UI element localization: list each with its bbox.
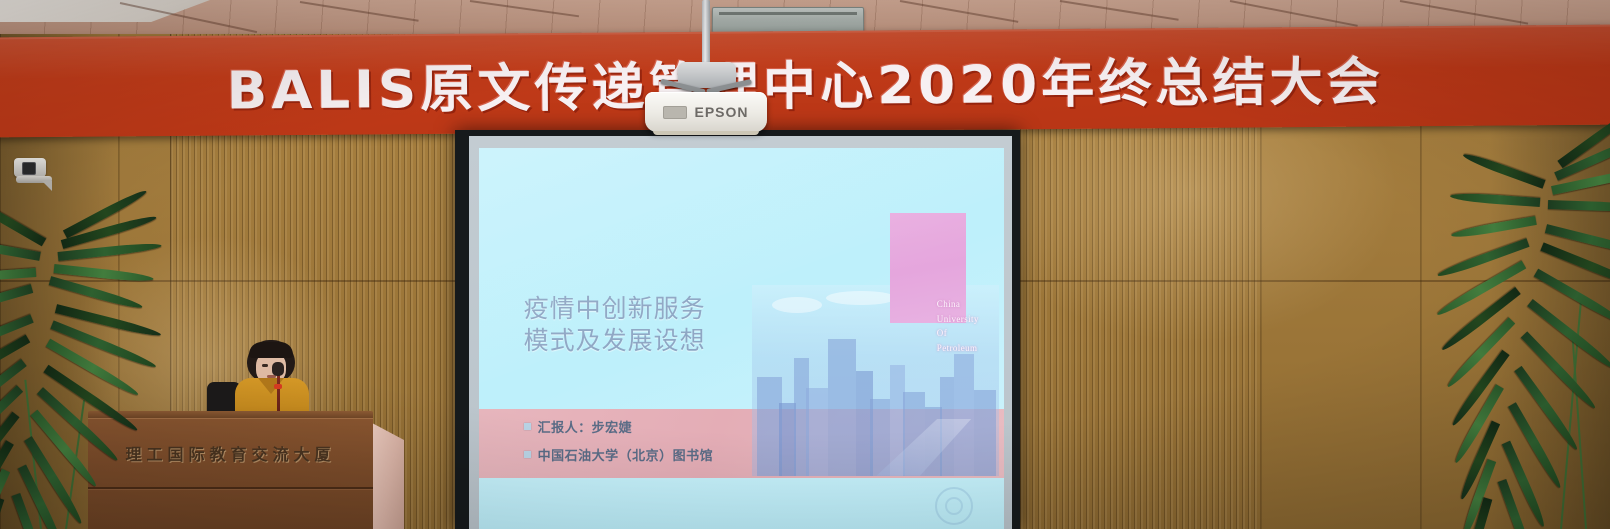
bullet-square-icon [524,451,531,458]
slide-bullet-item: 汇报人：步宏婕 [524,417,714,436]
logo-line-2: University [937,312,966,327]
presenter-fringe [249,342,293,358]
banner-title: BALIS原文传递管理中心2020年终总结大会 [212,39,1398,123]
slide-bullet-item: 中国石油大学（北京）图书馆 [524,445,714,464]
slide-bullet-list: 汇报人：步宏婕 中国石油大学（北京）图书馆 [524,417,714,473]
university-logo-block: China University Of Petroleum [890,213,966,323]
conference-hall-scene: BALIS原文传递管理中心2020年终总结大会 EPSON [0,0,1610,529]
podium-side-panel [372,423,404,529]
slide-title-line-1: 疫情中创新服务 [524,293,706,325]
camera-wall-mount [42,181,52,191]
potted-palm-right [1440,150,1610,529]
projector-pole [702,0,710,70]
microphone-indicator [274,384,282,389]
projection-screen: China University Of Petroleum 疫情中创新服务 模式… [455,130,1020,529]
ceiling-vent [712,7,864,33]
epson-projector: EPSON [645,92,767,132]
projector-lens-icon [663,106,687,119]
logo-line-1: China [937,297,966,312]
projector-brand-label: EPSON [694,104,748,120]
logo-line-4: Petroleum [937,341,966,356]
slide-lower-area [479,478,1004,529]
ceiling-tile-highlight [0,0,210,22]
presenter [225,340,320,420]
microphone-head-icon [272,362,284,376]
slide-bullet-text: 汇报人：步宏婕 [538,417,633,436]
logo-line-3: Of [937,326,966,341]
slide-title-line-2: 模式及发展设想 [524,325,706,357]
camera-lens-icon [22,162,36,175]
bullet-square-icon [524,423,531,430]
security-camera [12,158,56,192]
camera-body [14,158,46,177]
potted-palm-left [0,218,180,529]
event-banner: BALIS原文传递管理中心2020年终总结大会 [0,25,1610,138]
slide-bullet-text: 中国石油大学（北京）图书馆 [538,445,714,464]
slide-watermark-logo [935,487,973,525]
slide-title: 疫情中创新服务 模式及发展设想 [524,293,706,357]
projected-slide: China University Of Petroleum 疫情中创新服务 模式… [479,148,1004,529]
